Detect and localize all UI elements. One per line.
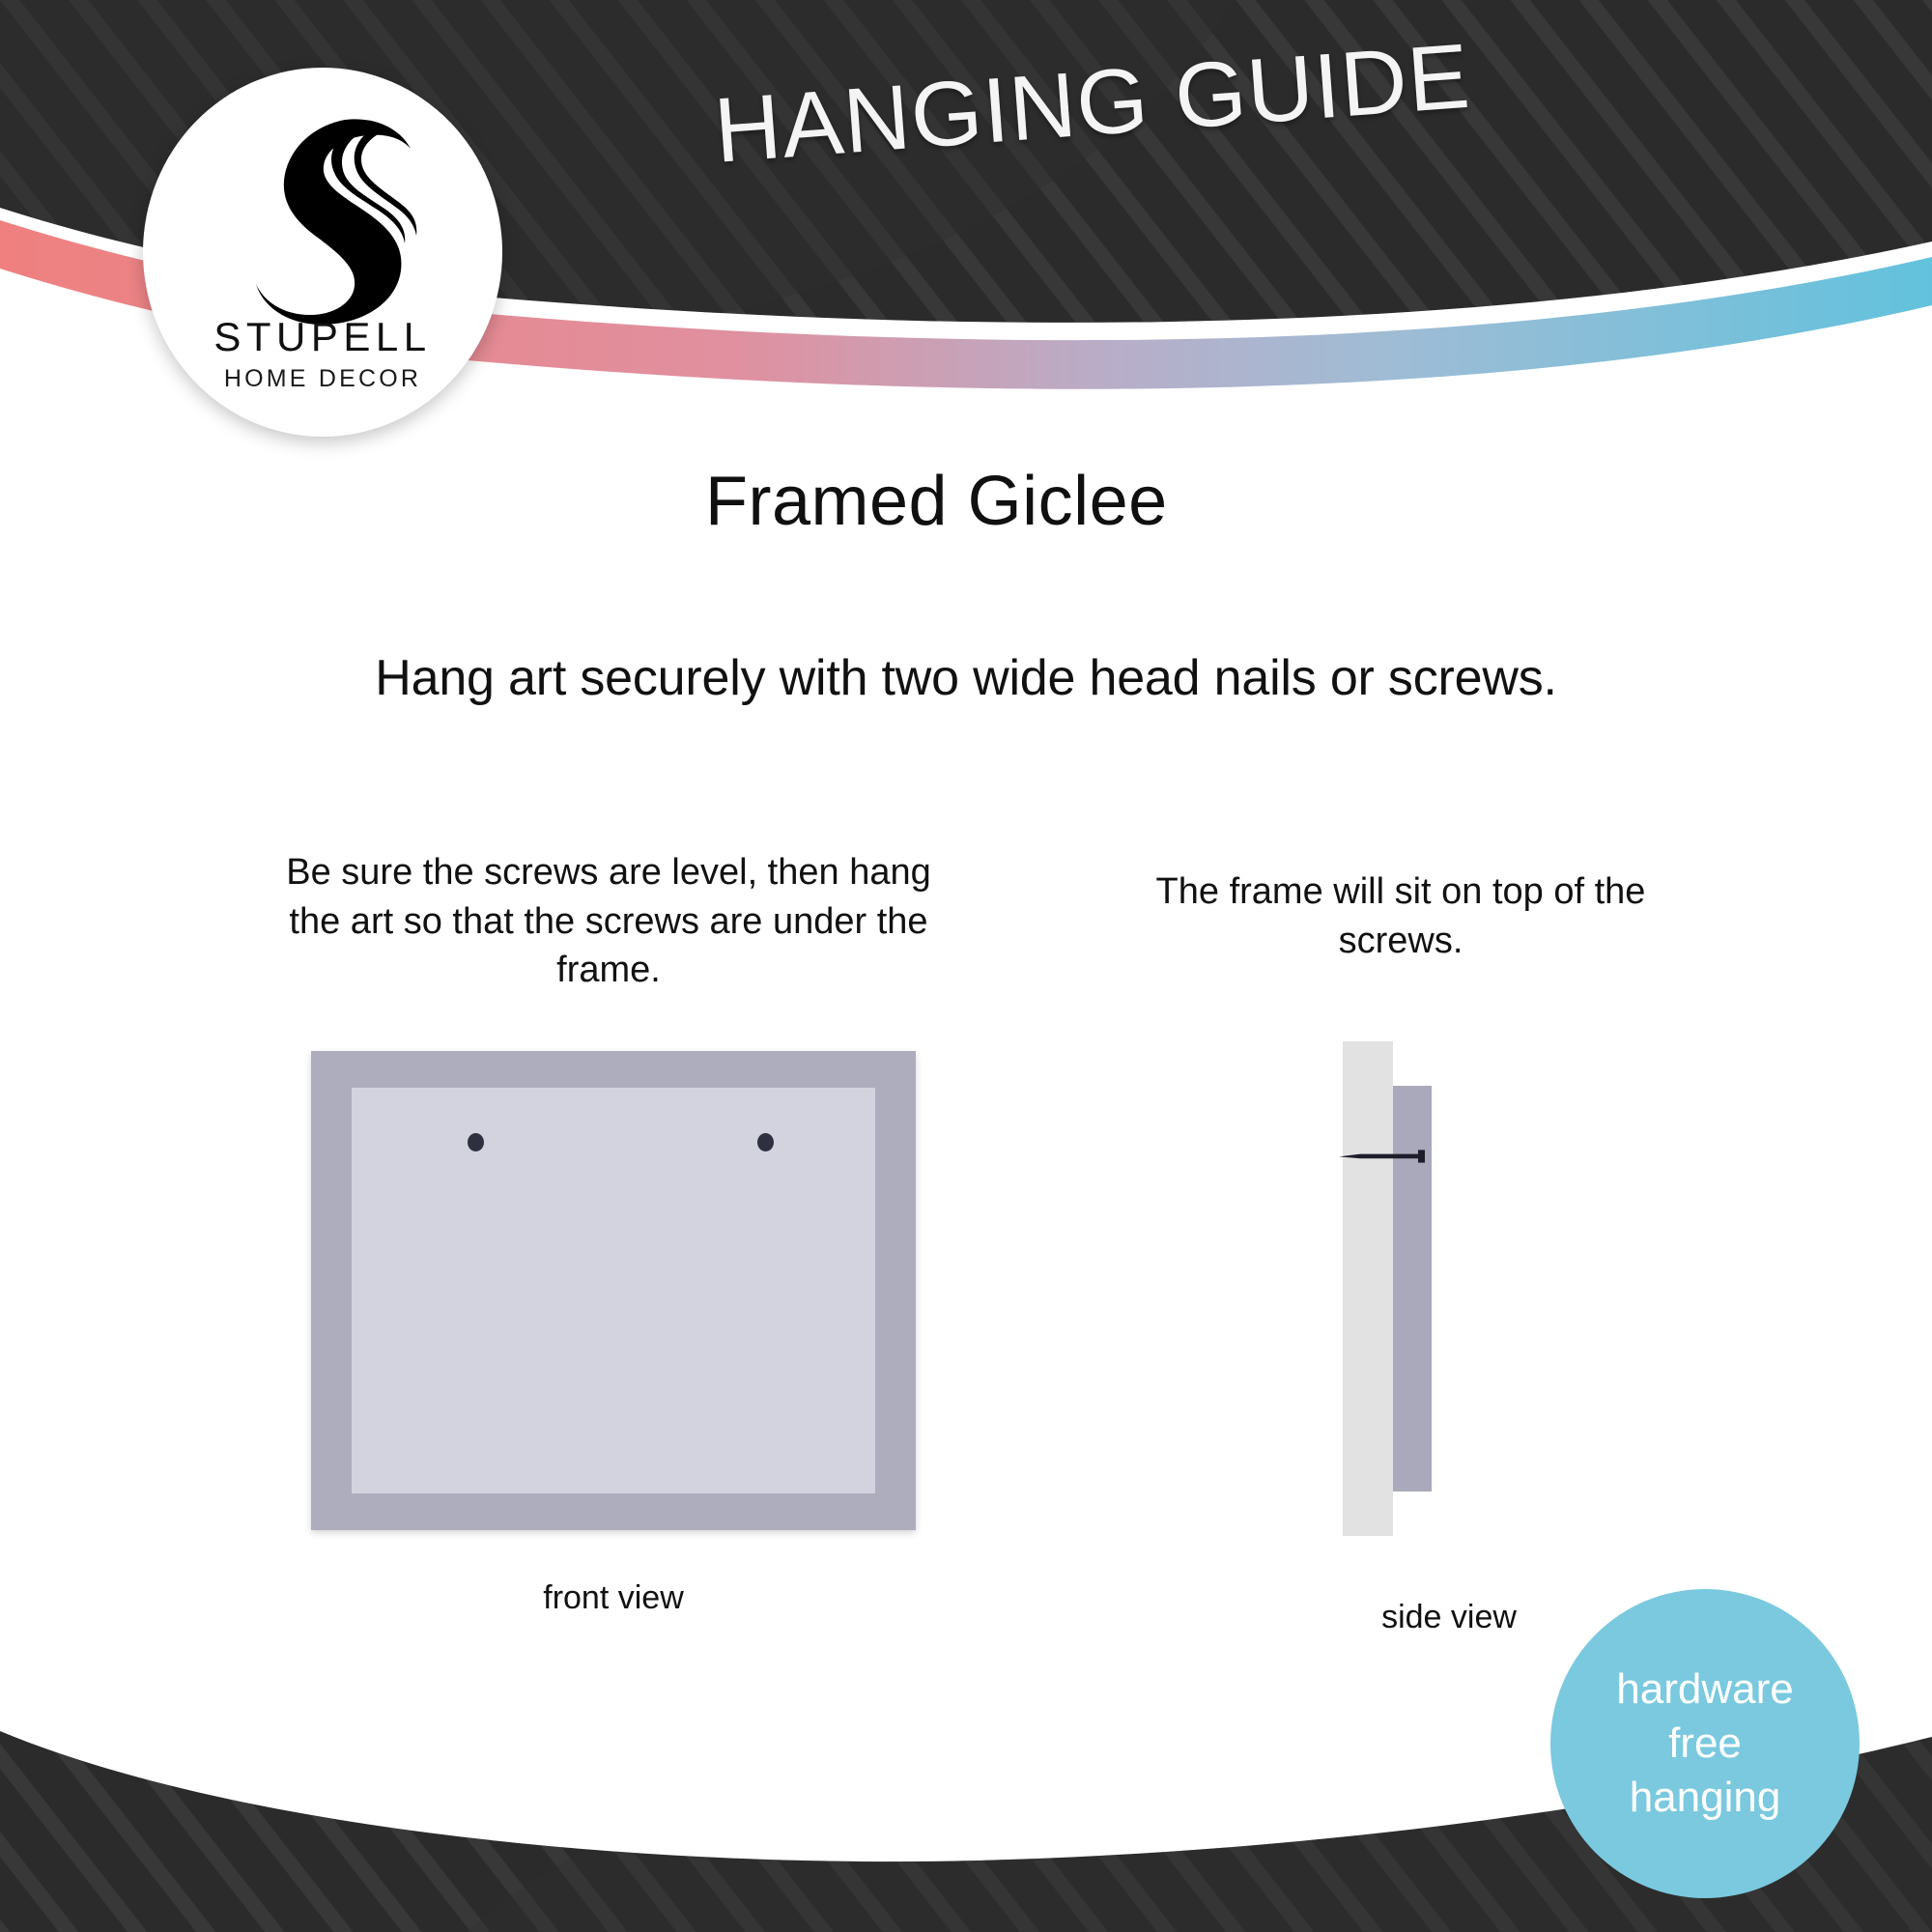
brand-wordmark: STUPELL HOME DECOR [143,317,502,391]
main-instruction-text: Hang art securely with two wide head nai… [0,649,1932,707]
nail-icon [1339,1150,1434,1163]
badge-line-1: hardware [1616,1662,1793,1717]
brand-subtitle: HOME DECOR [143,367,502,391]
brand-name: STUPELL [143,317,502,357]
side-view-wall [1343,1041,1393,1536]
side-view-frame [1393,1086,1432,1492]
hanging-guide-page: HANGING GUIDE STUPELL HOME DECOR Framed … [0,0,1932,1932]
screw-marker-right [757,1133,774,1151]
front-view-mat [352,1088,875,1493]
badge-line-3: hanging [1630,1771,1781,1825]
product-type-heading: Framed Giclee [705,462,1168,541]
front-view-instruction-text: Be sure the screws are level, then hang … [270,848,947,995]
front-view-diagram [311,1051,916,1530]
side-view-instruction-block: The frame will sit on top of the screws. [1111,867,1690,965]
hardware-free-hanging-badge: hardware free hanging [1550,1589,1860,1898]
brand-logo-badge: STUPELL HOME DECOR [143,68,502,437]
front-view-label: front view [311,1579,916,1617]
badge-line-2: free [1668,1717,1742,1771]
front-view-instruction-block: Be sure the screws are level, then hang … [270,848,947,995]
stupell-swirl-icon [221,114,424,325]
screw-marker-left [468,1133,484,1151]
side-view-diagram [1343,1041,1555,1536]
side-view-instruction-text: The frame will sit on top of the screws. [1111,867,1690,965]
